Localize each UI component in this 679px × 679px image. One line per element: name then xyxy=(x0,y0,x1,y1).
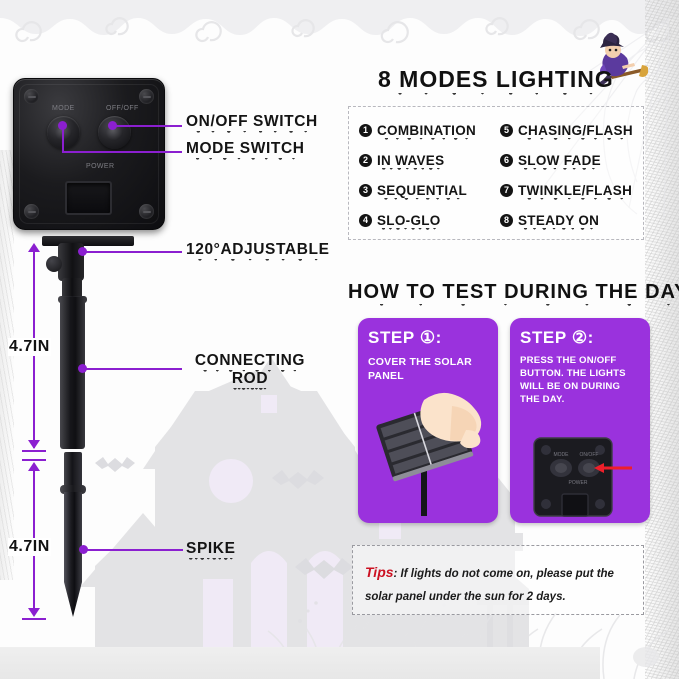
mode-label: IN WAVES xyxy=(377,153,444,168)
mounting-bracket xyxy=(42,236,134,246)
callout-line-spike xyxy=(85,549,183,551)
svg-text:MODE: MODE xyxy=(554,452,570,458)
mode-number-badge: 3 xyxy=(359,184,372,197)
dimension-value-rod: 4.7IN xyxy=(8,338,51,356)
tips-keyword: Tips xyxy=(365,564,394,580)
screw-icon xyxy=(24,89,39,104)
mode-label: TWINKLE/FLASH xyxy=(518,183,632,198)
ground-spike xyxy=(64,492,82,617)
spike-upper-segment xyxy=(64,452,82,488)
test-section-title: HOW TO TEST DURING THE DAY? xyxy=(348,281,679,304)
label-120-adjustable: 120°ADJUSTABLE xyxy=(186,241,330,259)
mode-item: 4 SLO-GLO xyxy=(359,205,496,235)
step-1-body: COVER THE SOLAR PANEL xyxy=(368,355,490,383)
svg-text:POWER: POWER xyxy=(569,480,588,486)
step-2-title: STEP ②: xyxy=(520,328,594,348)
mode-item: 5 CHASING/FLASH xyxy=(500,115,637,145)
step-card-2: STEP ②: PRESS THE ON/OFF BUTTON. THE LIG… xyxy=(510,318,650,523)
modes-section-title: 8 MODES LIGHTING xyxy=(378,66,614,93)
mode-number-badge: 1 xyxy=(359,124,372,137)
power-label: POWER xyxy=(86,163,114,170)
svg-text:ON/OFF: ON/OFF xyxy=(580,452,599,458)
step-card-1: STEP ①: COVER THE SOLAR PANEL xyxy=(358,318,498,523)
callout-line-adjustable xyxy=(84,251,182,253)
mode-label: CHASING/FLASH xyxy=(518,123,633,138)
mode-button-label: MODE xyxy=(52,105,75,112)
label-spike: SPIKE xyxy=(186,540,236,558)
mode-number-badge: 6 xyxy=(500,154,513,167)
callout-elbow-mode-v xyxy=(62,125,64,152)
mode-item: 7 TWINKLE/FLASH xyxy=(500,175,637,205)
swivel-knob xyxy=(46,256,62,272)
callout-line-rod xyxy=(84,368,182,370)
paper-texture-left xyxy=(0,150,14,580)
mode-number-badge: 5 xyxy=(500,124,513,137)
label-on-off-switch: ON/OFF SWITCH xyxy=(186,113,318,131)
paper-texture-right xyxy=(645,0,679,679)
connecting-rod xyxy=(60,297,85,449)
step-1-title: STEP ①: xyxy=(368,328,442,348)
dimension-tick xyxy=(22,450,46,452)
bat-icon xyxy=(95,455,135,477)
arrow-down-icon xyxy=(28,440,40,449)
mode-label: SEQUENTIAL xyxy=(377,183,467,198)
screw-icon xyxy=(24,204,39,219)
mode-label: COMBINATION xyxy=(377,123,476,138)
bat-icon xyxy=(272,468,324,494)
tips-box: Tips: If lights do not come on, please p… xyxy=(352,545,644,615)
mode-number-badge: 4 xyxy=(359,214,372,227)
mode-number-badge: 7 xyxy=(500,184,513,197)
step-2-body: PRESS THE ON/OFF BUTTON. THE LIGHTS WILL… xyxy=(520,355,642,407)
ground-line xyxy=(0,647,600,679)
solar-panel-hand-illustration xyxy=(366,390,490,516)
tips-body: : If lights do not come on, please put t… xyxy=(365,568,614,603)
control-panel-press-illustration: MODE ON/OFF POWER xyxy=(520,436,638,518)
mode-item: 8 STEADY ON xyxy=(500,205,637,235)
dimension-tick xyxy=(22,618,46,620)
callout-line-mode xyxy=(62,151,182,153)
tips-text: Tips: If lights do not come on, please p… xyxy=(365,558,633,609)
modes-list-box: 1 COMBINATION 5 CHASING/FLASH 2 IN WAVES… xyxy=(348,106,644,240)
mode-label: SLOW FADE xyxy=(518,153,601,168)
callout-line-onoff xyxy=(112,125,182,127)
arrow-down-icon xyxy=(28,608,40,617)
mode-number-badge: 2 xyxy=(359,154,372,167)
dimension-value-spike: 4.7IN xyxy=(8,538,51,556)
screw-icon xyxy=(139,89,154,104)
label-mode-switch: MODE SWITCH xyxy=(186,140,305,158)
mode-label: STEADY ON xyxy=(518,213,599,228)
dimension-tick xyxy=(22,459,46,461)
mode-item: 3 SEQUENTIAL xyxy=(359,175,496,205)
control-panel-illustration: MODE OFF/OFF POWER xyxy=(13,78,165,230)
screw-icon xyxy=(139,204,154,219)
mode-item: 1 COMBINATION xyxy=(359,115,496,145)
onoff-button-label: OFF/OFF xyxy=(106,105,139,112)
panel-port xyxy=(65,181,112,215)
swirl-border-icon xyxy=(0,0,679,60)
mode-item: 6 SLOW FADE xyxy=(500,145,637,175)
modes-grid: 1 COMBINATION 5 CHASING/FLASH 2 IN WAVES… xyxy=(359,115,637,233)
label-connecting-rod: CONNECTING ROD xyxy=(180,352,320,388)
bat-icon xyxy=(295,556,353,584)
mode-item: 2 IN WAVES xyxy=(359,145,496,175)
mode-number-badge: 8 xyxy=(500,214,513,227)
mode-label: SLO-GLO xyxy=(377,213,441,228)
infographic-canvas: MODE OFF/OFF POWER ON/OFF SWITCH MODE SW… xyxy=(0,0,679,679)
